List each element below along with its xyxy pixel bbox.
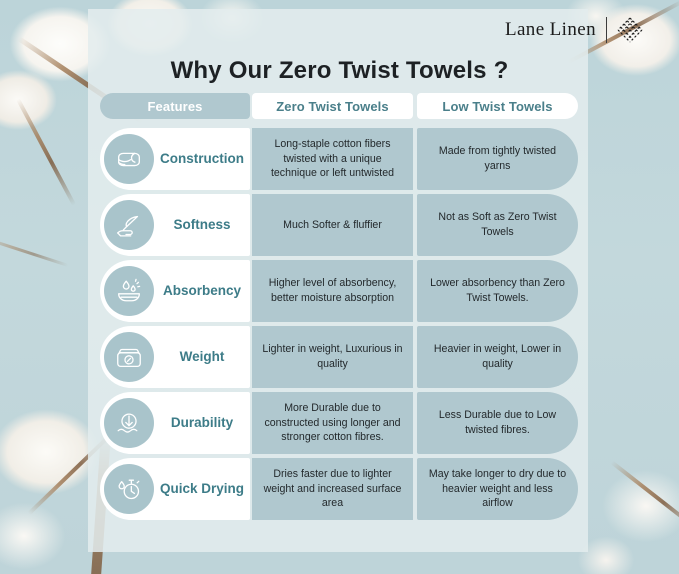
table-row: Absorbency Higher level of absorbency, b… bbox=[100, 260, 578, 322]
hand-feather-icon bbox=[104, 200, 154, 250]
stopwatch-droplet-icon bbox=[104, 464, 154, 514]
feature-label: Construction bbox=[154, 151, 250, 167]
zero-twist-cell: Dries faster due to lighter weight and i… bbox=[252, 458, 413, 520]
feature-cell: Quick Drying bbox=[100, 458, 250, 520]
zero-twist-cell: Lighter in weight, Luxurious in quality bbox=[252, 326, 413, 388]
feature-label: Softness bbox=[154, 217, 250, 233]
brand-logo: Lane Linen bbox=[505, 17, 643, 43]
down-arrow-waves-icon bbox=[104, 398, 154, 448]
low-twist-cell: May take longer to dry due to heavier we… bbox=[417, 458, 578, 520]
water-droplet-basin-icon bbox=[104, 266, 154, 316]
zero-twist-cell: Higher level of absorbency, better moist… bbox=[252, 260, 413, 322]
zero-twist-cell: More Durable due to constructed using lo… bbox=[252, 392, 413, 454]
table-row: Softness Much Softer & fluffier Not as S… bbox=[100, 194, 578, 256]
feature-label: Weight bbox=[154, 349, 250, 365]
table-row: Quick Drying Dries faster due to lighter… bbox=[100, 458, 578, 520]
low-twist-cell: Not as Soft as Zero Twist Towels bbox=[417, 194, 578, 256]
zero-twist-cell: Long-staple cotton fibers twisted with a… bbox=[252, 128, 413, 190]
page-title: Why Our Zero Twist Towels ? bbox=[0, 57, 679, 85]
brand-divider bbox=[606, 17, 607, 43]
brand-name: Lane Linen bbox=[505, 19, 596, 41]
column-header-low-twist: Low Twist Towels bbox=[417, 93, 578, 119]
kitchen-scale-icon bbox=[104, 332, 154, 382]
table-row: Durability More Durable due to construct… bbox=[100, 392, 578, 454]
feature-label: Quick Drying bbox=[154, 481, 250, 497]
feature-cell: Construction bbox=[100, 128, 250, 190]
table-header-row: Features Zero Twist Towels Low Twist Tow… bbox=[100, 93, 578, 119]
table-row: Construction Long-staple cotton fibers t… bbox=[100, 128, 578, 190]
feature-cell: Absorbency bbox=[100, 260, 250, 322]
folded-towel-icon bbox=[104, 134, 154, 184]
low-twist-cell: Less Durable due to Low twisted fibres. bbox=[417, 392, 578, 454]
table-row: Weight Lighter in weight, Luxurious in q… bbox=[100, 326, 578, 388]
low-twist-cell: Lower absorbency than Zero Twist Towels. bbox=[417, 260, 578, 322]
zero-twist-cell: Much Softer & fluffier bbox=[252, 194, 413, 256]
comparison-table: Features Zero Twist Towels Low Twist Tow… bbox=[100, 93, 578, 524]
feature-label: Absorbency bbox=[154, 283, 250, 299]
infographic-canvas: Lane Linen Why Our Zero Twist Towels ? F… bbox=[0, 0, 679, 574]
low-twist-cell: Heavier in weight, Lower in quality bbox=[417, 326, 578, 388]
column-header-zero-twist: Zero Twist Towels bbox=[252, 93, 413, 119]
feature-cell: Softness bbox=[100, 194, 250, 256]
feature-label: Durability bbox=[154, 415, 250, 431]
low-twist-cell: Made from tightly twisted yarns bbox=[417, 128, 578, 190]
feature-cell: Weight bbox=[100, 326, 250, 388]
woven-diamond-logo-icon bbox=[617, 17, 643, 43]
column-header-features: Features bbox=[100, 93, 250, 119]
feature-cell: Durability bbox=[100, 392, 250, 454]
